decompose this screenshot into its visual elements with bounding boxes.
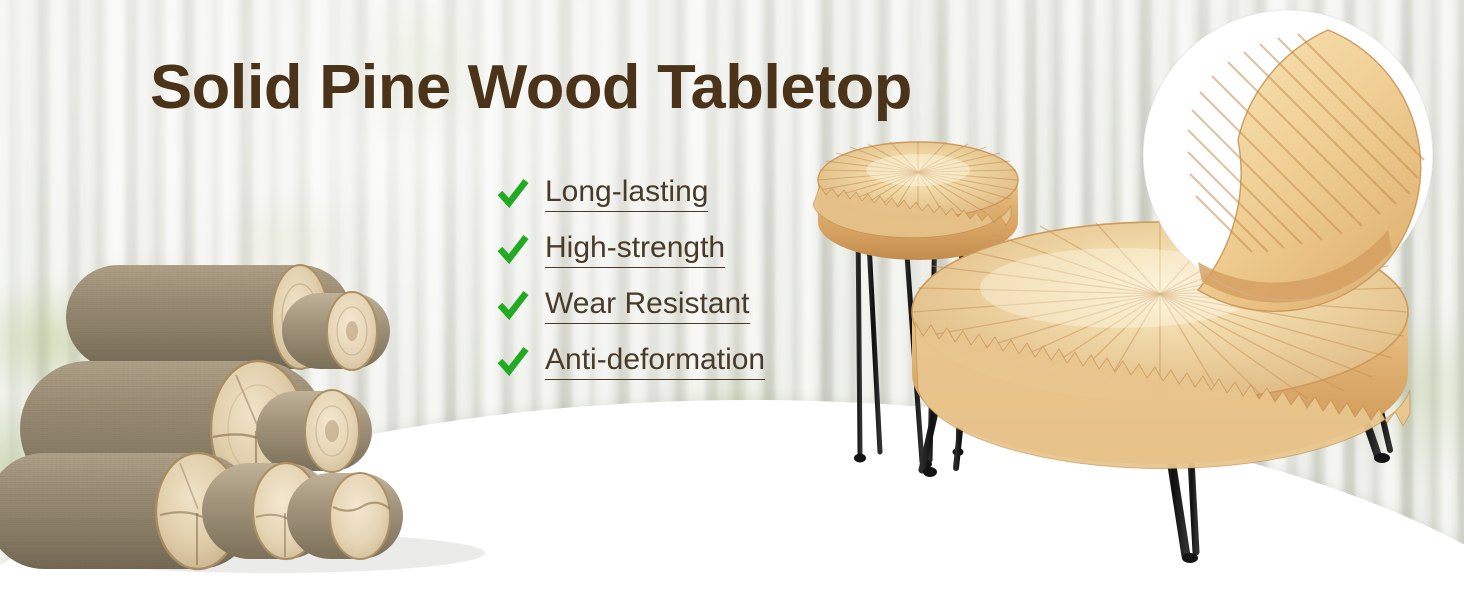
feature-item: Long-lasting (497, 176, 765, 210)
log-pile-image (0, 215, 520, 585)
log-middle-right (256, 390, 372, 472)
log-upper-right (282, 292, 390, 370)
product-banner: Solid Pine Wood Tabletop Long-lasting Hi… (0, 0, 1464, 600)
check-icon (497, 178, 529, 208)
feature-label: Long-lasting (545, 175, 708, 212)
check-icon (497, 234, 529, 264)
feature-item: Wear Resistant (497, 288, 765, 322)
feature-label: High-strength (545, 231, 725, 268)
feature-label: Anti-deformation (545, 343, 765, 380)
feature-list: Long-lasting High-strength Wear Resistan… (497, 176, 765, 378)
check-icon (497, 290, 529, 320)
feature-item: High-strength (497, 232, 765, 266)
page-title: Solid Pine Wood Tabletop (150, 53, 912, 123)
feature-label: Wear Resistant (545, 287, 750, 324)
feature-item: Anti-deformation (497, 344, 765, 378)
log-bottom-right-2 (287, 473, 403, 559)
check-icon (497, 346, 529, 376)
